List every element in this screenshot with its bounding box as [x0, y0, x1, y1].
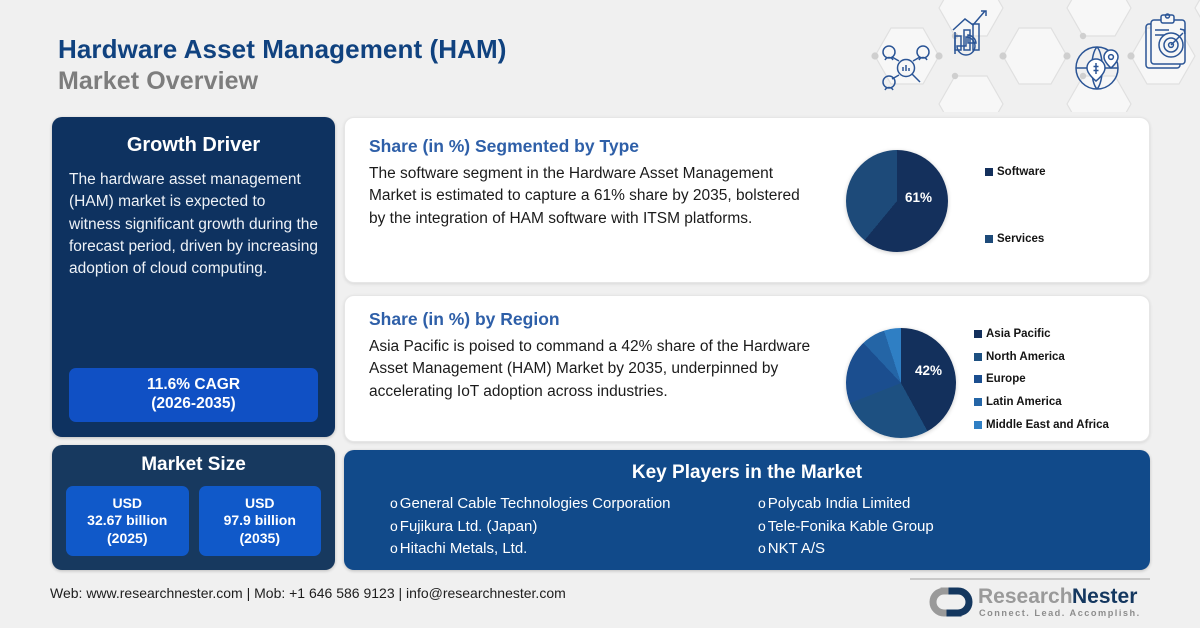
key-player-name: Polycab India Limited: [768, 493, 911, 516]
page-header: Hardware Asset Management (HAM) Market O…: [0, 0, 1200, 110]
market-size-card: Market Size USD 32.67 billion (2025) USD…: [52, 445, 335, 570]
footer-contact-info: Web: www.researchnester.com | Mob: +1 64…: [50, 584, 610, 603]
list-item: o NKT A/S: [758, 538, 1126, 561]
bullet-icon: o: [390, 493, 398, 514]
header-hex-decoration: [855, 0, 1200, 112]
market-size-box-2035: USD 97.9 billion (2035): [199, 486, 322, 556]
share-by-region-pie-chart: [846, 328, 956, 438]
share-by-region-body: Asia Pacific is poised to command a 42% …: [345, 330, 815, 403]
key-player-name: Tele-Fonika Kable Group: [768, 516, 934, 539]
page-title: Hardware Asset Management (HAM) Market O…: [58, 34, 507, 96]
research-nester-logo: Research Nester Connect. Lead. Accomplis…: [910, 580, 1150, 622]
growth-driver-body: The hardware asset management (HAM) mark…: [52, 157, 335, 281]
key-players-columns: o General Cable Technologies Corporation…: [344, 484, 1150, 561]
market-size-title: Market Size: [52, 454, 335, 476]
market-size-amount: 97.9 billion: [224, 512, 296, 530]
share-by-region-heading: Share (in %) by Region: [345, 296, 1149, 330]
legend-swatch-icon: [974, 353, 982, 361]
legend-label: Europe: [986, 372, 1026, 387]
legend-label: Services: [997, 232, 1044, 247]
list-item: o General Cable Technologies Corporation: [390, 493, 758, 516]
market-size-currency: USD: [112, 495, 142, 513]
growth-driver-card: Growth Driver The hardware asset managem…: [52, 117, 335, 437]
list-item: o Tele-Fonika Kable Group: [758, 516, 1126, 539]
list-item: o Fujikura Ltd. (Japan): [390, 516, 758, 539]
key-players-card: Key Players in the Market o General Cabl…: [344, 450, 1150, 570]
share-by-type-heading: Share (in %) Segmented by Type: [345, 118, 1149, 157]
page-title-sub: Market Overview: [58, 66, 507, 96]
share-by-type-pie-chart: [846, 150, 948, 252]
cagr-period: (2026-2035): [151, 395, 235, 414]
key-player-name: Hitachi Metals, Ltd.: [400, 538, 528, 561]
key-player-name: NKT A/S: [768, 538, 825, 561]
market-size-currency: USD: [245, 495, 275, 513]
legend-label: North America: [986, 350, 1065, 365]
legend-item-europe: Europe: [974, 372, 1109, 387]
list-item: o Polycab India Limited: [758, 493, 1126, 516]
key-players-right-column: o Polycab India Limited o Tele-Fonika Ka…: [758, 493, 1126, 561]
share-by-type-pie-label: 61%: [905, 190, 932, 205]
legend-swatch-icon: [974, 398, 982, 406]
legend-item-middle-east-and-africa: Middle East and Africa: [974, 418, 1109, 433]
key-players-left-column: o General Cable Technologies Corporation…: [390, 493, 758, 561]
key-player-name: General Cable Technologies Corporation: [400, 493, 671, 516]
legend-label: Asia Pacific: [986, 327, 1051, 342]
bullet-icon: o: [390, 516, 398, 537]
legend-label: Latin America: [986, 395, 1062, 410]
cagr-value: 11.6% CAGR: [147, 376, 240, 395]
cagr-badge: 11.6% CAGR (2026-2035): [69, 368, 318, 422]
legend-item-services: Services: [985, 232, 1046, 247]
list-item: o Hitachi Metals, Ltd.: [390, 538, 758, 561]
key-players-title: Key Players in the Market: [344, 462, 1150, 484]
market-size-amount: 32.67 billion: [87, 512, 167, 530]
legend-swatch-icon: [974, 375, 982, 383]
bullet-icon: o: [390, 538, 398, 559]
market-size-boxes: USD 32.67 billion (2025) USD 97.9 billio…: [52, 476, 335, 556]
legend-item-north-america: North America: [974, 350, 1109, 365]
market-size-box-2025: USD 32.67 billion (2025): [66, 486, 189, 556]
bullet-icon: o: [758, 516, 766, 537]
legend-swatch-icon: [985, 235, 993, 243]
logo-mark-icon: [933, 591, 969, 613]
clipboard-target-icon: [1146, 14, 1185, 68]
share-by-region-legend: Asia Pacific North America Europe Latin …: [974, 327, 1109, 433]
legend-item-latin-america: Latin America: [974, 395, 1109, 410]
logo-name-nester: Nester: [1072, 585, 1137, 608]
share-by-type-body: The software segment in the Hardware Ass…: [345, 157, 815, 230]
legend-item-asia-pacific: Asia Pacific: [974, 327, 1109, 342]
legend-swatch-icon: [974, 330, 982, 338]
legend-swatch-icon: [974, 421, 982, 429]
bullet-icon: o: [758, 538, 766, 559]
share-by-region-pie-label: 42%: [915, 363, 942, 378]
logo-tagline: Connect. Lead. Accomplish.: [979, 608, 1141, 618]
key-player-name: Fujikura Ltd. (Japan): [400, 516, 538, 539]
legend-item-software: Software: [985, 165, 1046, 180]
legend-label: Software: [997, 165, 1046, 180]
legend-label: Middle East and Africa: [986, 418, 1109, 433]
logo-name-research: Research: [978, 585, 1073, 608]
legend-swatch-icon: [985, 168, 993, 176]
market-size-year: (2025): [107, 530, 147, 548]
page-title-main: Hardware Asset Management (HAM): [58, 34, 507, 64]
growth-driver-title: Growth Driver: [52, 134, 335, 157]
share-by-type-legend: Software Services: [985, 165, 1046, 246]
bullet-icon: o: [758, 493, 766, 514]
market-size-year: (2035): [240, 530, 280, 548]
